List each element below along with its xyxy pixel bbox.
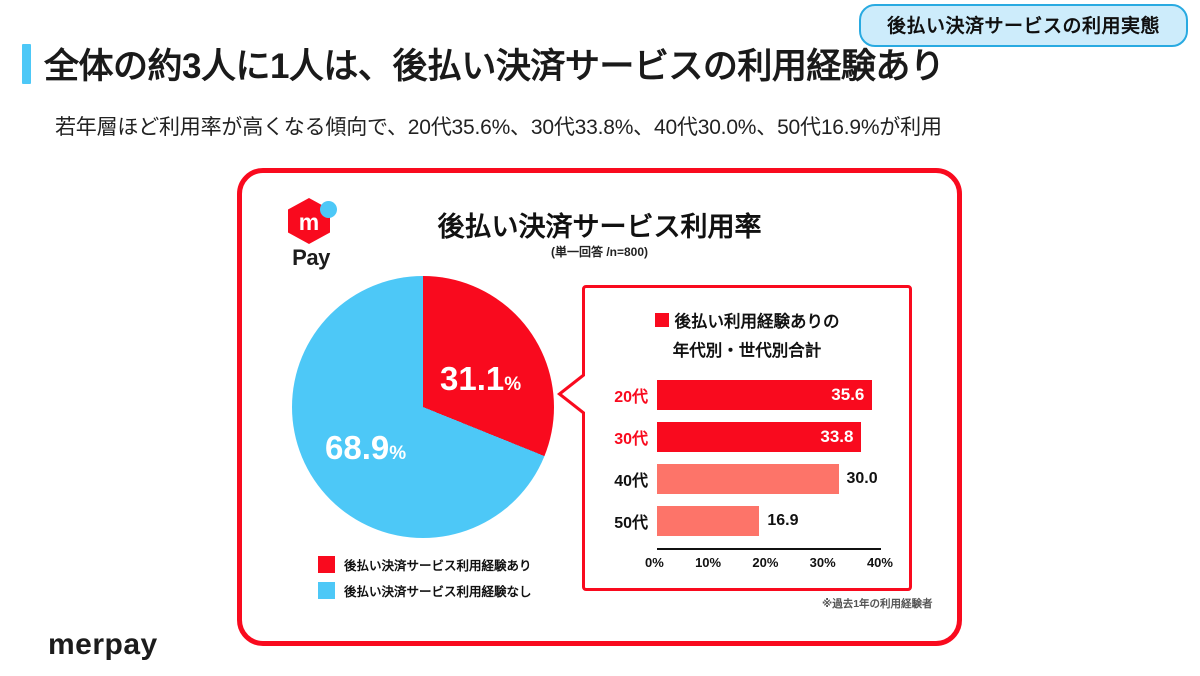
page-subtitle: 若年層ほど利用率が高くなる傾向で、20代35.6%、30代33.8%、40代30… (55, 111, 942, 141)
bar-category-20s: 20代 (601, 383, 657, 407)
pie-chart: 31.1% 68.9% (292, 276, 554, 538)
chart-subtitle: (単一回答 /n=800) (242, 243, 957, 260)
x-axis-ticks: 0% 10% 20% 30% 40% (645, 555, 893, 570)
chart-card: m Pay 後払い決済サービス利用率 (単一回答 /n=800) 31.1% 6… (237, 168, 962, 646)
legend-label-yes: 後払い決済サービス利用経験あり (344, 555, 532, 574)
percent-sign: % (504, 374, 521, 395)
callout-title: 後払い利用経験ありの 年代別・世代別合計 (585, 308, 909, 361)
accent-bar (22, 44, 31, 84)
chart-title: 後払い決済サービス利用率 (242, 205, 957, 244)
axis-tick-40: 40% (867, 555, 893, 570)
axis-tick-20: 20% (752, 555, 778, 570)
legend-item-yes: 後払い決済サービス利用経験あり (318, 555, 532, 574)
bar-30s: 33.8 (657, 422, 861, 452)
legend-swatch-red (318, 556, 335, 573)
pie-value-yes: 31.1 (440, 360, 504, 397)
bar-track: 16.9 (657, 506, 899, 536)
bar-chart: 20代 35.6 30代 33.8 (601, 380, 899, 570)
bar-row: 40代 30.0 (601, 464, 899, 494)
callout-title-line2: 年代別・世代別合計 (585, 337, 909, 361)
axis-tick-30: 30% (810, 555, 836, 570)
pie-slice-label-no: 68.9% (325, 429, 406, 467)
legend-item-no: 後払い決済サービス利用経験なし (318, 581, 532, 600)
bar-category-50s: 50代 (601, 509, 657, 533)
legend-label-no: 後払い決済サービス利用経験なし (344, 581, 532, 600)
bar-category-40s: 40代 (601, 467, 657, 491)
red-square-icon (655, 313, 669, 327)
bar-track: 30.0 (657, 464, 899, 494)
bar-40s (657, 464, 839, 494)
callout-title-line1-row: 後払い利用経験ありの (585, 308, 909, 332)
pie-value-no: 68.9 (325, 429, 389, 466)
bar-50s (657, 506, 759, 536)
headline-row: 全体の約3人に1人は、後払い決済サービスの利用経験あり (22, 38, 944, 89)
chart-footnote: ※過去1年の利用経験者 (822, 596, 933, 611)
slide-root: 後払い決済サービスの利用実態 全体の約3人に1人は、後払い決済サービスの利用経験… (0, 0, 1200, 676)
x-axis-line (657, 548, 881, 550)
axis-tick-0: 0% (645, 555, 664, 570)
bar-track: 35.6 (657, 380, 899, 410)
percent-sign: % (389, 443, 406, 464)
age-breakdown-callout: 後払い利用経験ありの 年代別・世代別合計 20代 35.6 30代 (582, 285, 912, 591)
bar-track: 33.8 (657, 422, 899, 452)
merpay-wordmark: merpay (48, 628, 158, 662)
callout-title-line1: 後払い利用経験ありの (675, 308, 840, 332)
bar-row: 50代 16.9 (601, 506, 899, 536)
page-title: 全体の約3人に1人は、後払い決済サービスの利用経験あり (44, 38, 944, 89)
bar-value-30s: 33.8 (820, 427, 861, 447)
legend-swatch-blue (318, 582, 335, 599)
bar-row: 20代 35.6 (601, 380, 899, 410)
bar-20s: 35.6 (657, 380, 872, 410)
bar-row: 30代 33.8 (601, 422, 899, 452)
bar-value-40s: 30.0 (839, 470, 878, 488)
bar-value-50s: 16.9 (759, 512, 798, 530)
pie-slice-label-yes: 31.1% (440, 360, 521, 398)
pie-shape (292, 276, 554, 538)
bar-value-20s: 35.6 (831, 385, 872, 405)
callout-pointer-inner (562, 372, 590, 416)
pie-legend: 後払い決済サービス利用経験あり 後払い決済サービス利用経験なし (318, 555, 532, 607)
axis-tick-10: 10% (695, 555, 721, 570)
bar-category-30s: 30代 (601, 425, 657, 449)
